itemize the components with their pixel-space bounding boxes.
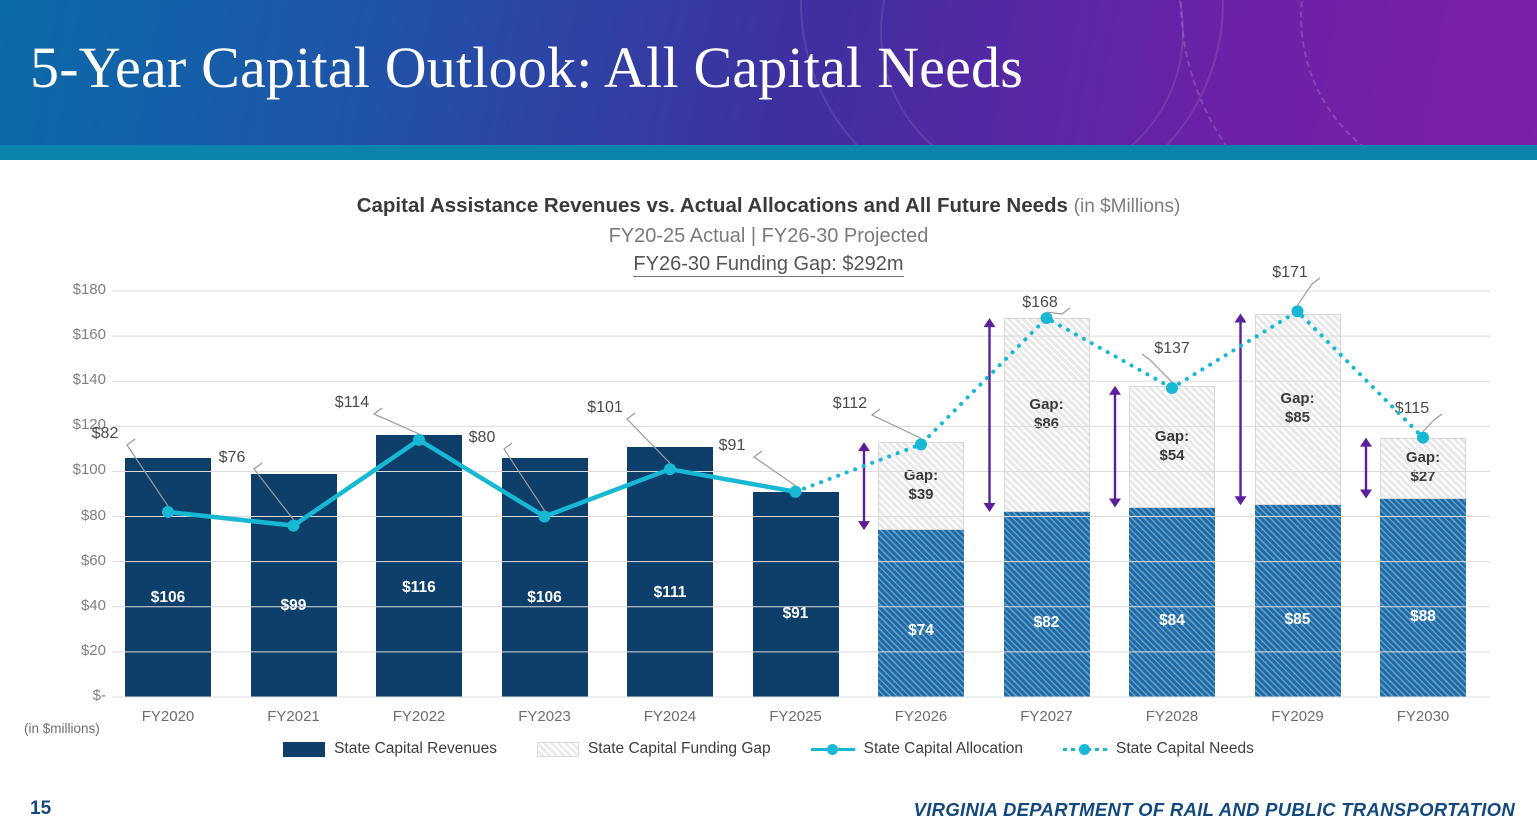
x-axis-label-fy2023: FY2023	[485, 708, 605, 725]
bar-revenue-fy2027	[1004, 512, 1090, 697]
callout-label-fy2023: $80	[437, 429, 527, 447]
y-axis-tick-label: $-	[46, 687, 106, 704]
gap-label-line-0: Gap:	[1112, 427, 1232, 446]
gap-value-label-fy2028: Gap:$54	[1112, 427, 1232, 465]
gap-value-label-fy2029: Gap:$85	[1238, 389, 1358, 427]
gap-value-label-fy2030: Gap:$27	[1363, 448, 1483, 486]
callout-label-fy2022: $114	[307, 394, 397, 412]
callout-label-fy2028: $137	[1127, 340, 1217, 358]
y-axis-tick-label: $20	[46, 642, 106, 659]
bar-value-label-fy2021: $99	[234, 597, 354, 615]
callout-label-fy2020: $82	[60, 425, 150, 443]
bar-revenue-fy2022	[376, 435, 462, 697]
legend-swatch-dotted-line-marker	[1063, 742, 1107, 757]
gap-value-label-fy2027: Gap:$86	[987, 395, 1107, 433]
organization-name: VIRGINIA DEPARTMENT OF RAIL AND PUBLIC T…	[914, 799, 1515, 821]
bar-value-label-fy2028: $84	[1112, 612, 1232, 630]
bar-revenue-fy2021	[251, 474, 337, 697]
chart-title: Capital Assistance Revenues vs. Actual A…	[0, 194, 1537, 218]
x-axis-label-fy2021: FY2021	[234, 708, 354, 725]
legend-label: State Capital Funding Gap	[588, 740, 771, 758]
bar-value-label-fy2030: $88	[1363, 608, 1483, 626]
bar-revenue-fy2020	[125, 458, 211, 697]
bar-revenue-fy2029	[1255, 505, 1341, 697]
chart-title-units: (in $Millions)	[1074, 196, 1181, 217]
legend-item-0[interactable]: State Capital Revenues	[283, 740, 497, 758]
legend-item-1[interactable]: State Capital Funding Gap	[537, 740, 771, 758]
page-number: 15	[30, 798, 51, 820]
bar-value-label-fy2026: $74	[861, 622, 981, 640]
legend-swatch-solid-line-marker	[811, 742, 855, 757]
legend-label: State Capital Allocation	[864, 740, 1023, 758]
bar-value-label-fy2024: $111	[610, 584, 730, 602]
x-axis-label-fy2024: FY2024	[610, 708, 730, 725]
axis-note: (in $millions)	[24, 721, 100, 736]
callout-label-fy2021: $76	[187, 449, 277, 467]
legend-label: State Capital Revenues	[334, 740, 497, 758]
chart-title-main: Capital Assistance Revenues vs. Actual A…	[357, 194, 1068, 217]
gap-label-line-0: Gap:	[861, 466, 981, 485]
bar-value-label-fy2029: $85	[1238, 611, 1358, 629]
y-axis-tick-label: $140	[46, 371, 106, 388]
bar-revenue-fy2028	[1129, 508, 1215, 697]
gap-label-line-1: $54	[1112, 446, 1232, 465]
page-title: 5-Year Capital Outlook: All Capital Need…	[30, 34, 1023, 101]
x-axis-label-fy2030: FY2030	[1363, 708, 1483, 725]
y-axis-tick-label: $40	[46, 597, 106, 614]
bar-value-label-fy2023: $106	[485, 589, 605, 607]
gap-label-line-1: $85	[1238, 408, 1358, 427]
y-axis-tick-label: $80	[46, 507, 106, 524]
gap-label-line-1: $27	[1363, 467, 1483, 486]
callout-label-fy2027: $168	[995, 294, 1085, 312]
chart-subtitle-gap-text: FY26-30 Funding Gap: $292m	[633, 253, 903, 277]
bar-value-label-fy2020: $106	[108, 589, 228, 607]
legend-swatch-solid-navy	[283, 742, 325, 757]
x-axis-label-fy2028: FY2028	[1112, 708, 1232, 725]
y-axis-tick-label: $180	[46, 281, 106, 298]
gap-label-line-1: $39	[861, 485, 981, 504]
callout-label-fy2024: $101	[560, 399, 650, 417]
bar-revenue-fy2026	[878, 530, 964, 697]
header-accent-bar	[0, 145, 1537, 160]
y-axis-tick-label: $160	[46, 326, 106, 343]
x-axis-label-fy2020: FY2020	[108, 708, 228, 725]
gap-label-line-0: Gap:	[1363, 448, 1483, 467]
callout-label-fy2026: $112	[805, 395, 895, 413]
bar-value-label-fy2025: $91	[736, 605, 856, 623]
x-axis-label-fy2025: FY2025	[736, 708, 856, 725]
x-axis-label-fy2027: FY2027	[987, 708, 1107, 725]
gap-value-label-fy2026: Gap:$39	[861, 466, 981, 504]
slide-header: 5-Year Capital Outlook: All Capital Need…	[0, 0, 1537, 145]
gap-label-line-1: $86	[987, 414, 1107, 433]
callout-label-fy2029: $171	[1245, 264, 1335, 282]
chart-subtitle: FY20-25 Actual | FY26-30 Projected	[0, 225, 1537, 248]
bar-revenue-fy2024	[627, 447, 713, 697]
chart-legend: State Capital RevenuesState Capital Fund…	[0, 740, 1537, 758]
bar-value-label-fy2027: $82	[987, 614, 1107, 632]
callout-label-fy2030: $115	[1367, 400, 1457, 418]
legend-item-3[interactable]: State Capital Needs	[1063, 740, 1254, 758]
legend-item-2[interactable]: State Capital Allocation	[811, 740, 1023, 758]
bar-value-label-fy2022: $116	[359, 579, 479, 597]
gap-label-line-0: Gap:	[987, 395, 1107, 414]
callout-label-fy2025: $91	[687, 437, 777, 455]
x-axis-label-fy2022: FY2022	[359, 708, 479, 725]
legend-label: State Capital Needs	[1116, 740, 1254, 758]
bar-revenue-fy2023	[502, 458, 588, 697]
x-axis-label-fy2029: FY2029	[1238, 708, 1358, 725]
legend-swatch-hatched-gray	[537, 742, 579, 757]
x-axis-label-fy2026: FY2026	[861, 708, 981, 725]
y-axis-tick-label: $60	[46, 552, 106, 569]
y-axis-tick-label: $100	[46, 461, 106, 478]
gap-label-line-0: Gap:	[1238, 389, 1358, 408]
bar-revenue-fy2025	[753, 492, 839, 697]
bar-revenue-fy2030	[1380, 499, 1466, 697]
